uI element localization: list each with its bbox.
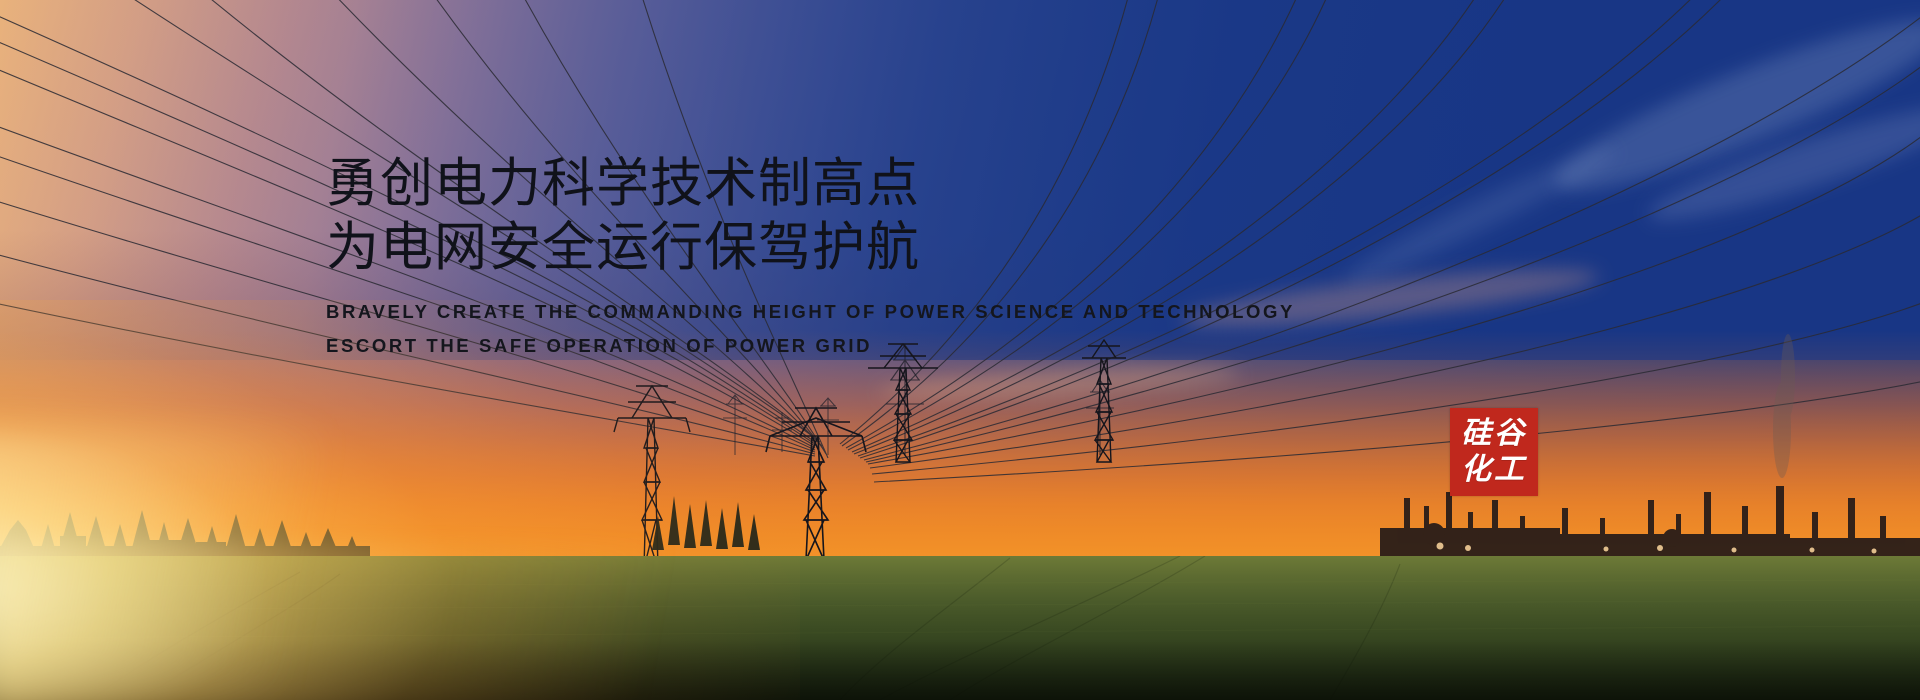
logo-line-1: 硅谷: [1461, 416, 1527, 452]
company-logo-stamp[interactable]: 硅谷 化工: [1450, 408, 1538, 496]
hero-banner: 勇创电力科学技术制高点 为电网安全运行保驾护航 BRAVELY CREATE T…: [0, 0, 1920, 700]
headline-line-2: 为电网安全运行保驾护航: [326, 219, 1226, 277]
banner-copy: 勇创电力科学技术制高点 为电网安全运行保驾护航 BRAVELY CREATE T…: [326, 155, 1226, 363]
sun-streak: [0, 430, 440, 690]
headline-line-1: 勇创电力科学技术制高点: [326, 155, 1226, 213]
subtitle-line-2: ESCORT THE SAFE OPERATION OF POWER GRID: [326, 329, 1226, 363]
subtitle-line-1: BRAVELY CREATE THE COMMANDING HEIGHT OF …: [326, 295, 1226, 329]
logo-line-2: 化工: [1461, 452, 1527, 488]
